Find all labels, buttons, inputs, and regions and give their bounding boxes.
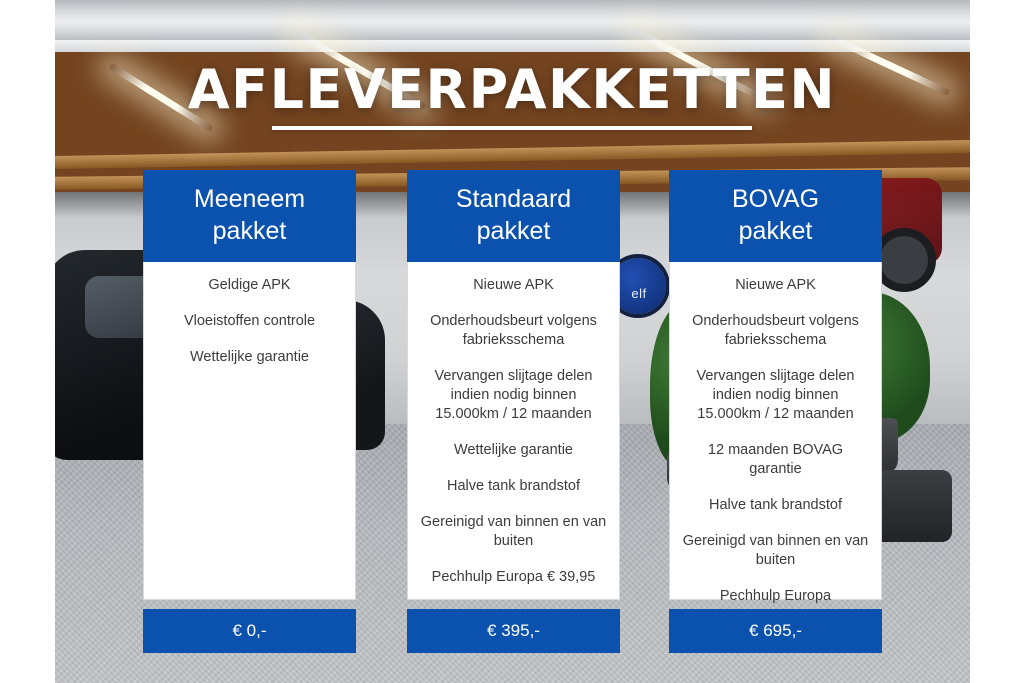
pricing-card-meeneem[interactable]: Meeneem pakket Geldige APK Vloeistoffen … xyxy=(143,170,356,653)
card-price[interactable]: € 395,- xyxy=(407,609,620,653)
card-title-line2: pakket xyxy=(413,215,614,247)
list-item: Halve tank brandstof xyxy=(682,496,869,515)
card-price[interactable]: € 695,- xyxy=(669,609,882,653)
list-item: Pechhulp Europa € 39,95 xyxy=(420,568,607,587)
card-title-line1: Standaard xyxy=(413,183,614,215)
pricing-card-standaard[interactable]: Standaard pakket Nieuwe APK Onderhoudsbe… xyxy=(407,170,620,653)
card-spacer xyxy=(407,600,620,609)
card-title-line1: BOVAG xyxy=(675,183,876,215)
list-item: Vervangen slijtage delen indien nodig bi… xyxy=(682,367,869,424)
pricing-graphic: elf AFLEVERPAKKETTEN Meeneem pakket Geld… xyxy=(0,0,1024,683)
card-feature-list: Geldige APK Vloeistoffen controle Wettel… xyxy=(143,262,356,600)
card-header: Standaard pakket xyxy=(407,170,620,262)
card-header: BOVAG pakket xyxy=(669,170,882,262)
pricing-card-bovag[interactable]: BOVAG pakket Nieuwe APK Onderhoudsbeurt … xyxy=(669,170,882,653)
card-feature-list: Nieuwe APK Onderhoudsbeurt volgens fabri… xyxy=(669,262,882,600)
card-title-line1: Meeneem xyxy=(149,183,350,215)
card-title-line2: pakket xyxy=(149,215,350,247)
list-item: Geldige APK xyxy=(156,276,343,295)
list-item: Vervangen slijtage delen indien nodig bi… xyxy=(420,367,607,424)
list-item: Gereinigd van binnen en van buiten xyxy=(682,532,869,570)
list-item: Nieuwe APK xyxy=(420,276,607,295)
card-header: Meeneem pakket xyxy=(143,170,356,262)
list-item: Gereinigd van binnen en van buiten xyxy=(420,513,607,551)
list-item: Nieuwe APK xyxy=(682,276,869,295)
list-item: Halve tank brandstof xyxy=(420,477,607,496)
list-item: Wettelijke garantie xyxy=(420,441,607,460)
card-feature-list: Nieuwe APK Onderhoudsbeurt volgens fabri… xyxy=(407,262,620,600)
list-item: 12 maanden BOVAG garantie xyxy=(682,441,869,479)
list-item: Wettelijke garantie xyxy=(156,348,343,367)
list-item: Vloeistoffen controle xyxy=(156,312,343,331)
list-item: Onderhoudsbeurt volgens fabrieksschema xyxy=(682,312,869,350)
card-spacer xyxy=(143,600,356,609)
title-underline xyxy=(272,126,752,130)
list-item: Onderhoudsbeurt volgens fabrieksschema xyxy=(420,312,607,350)
page-title: AFLEVERPAKKETTEN xyxy=(0,58,1024,121)
card-title-line2: pakket xyxy=(675,215,876,247)
card-price[interactable]: € 0,- xyxy=(143,609,356,653)
